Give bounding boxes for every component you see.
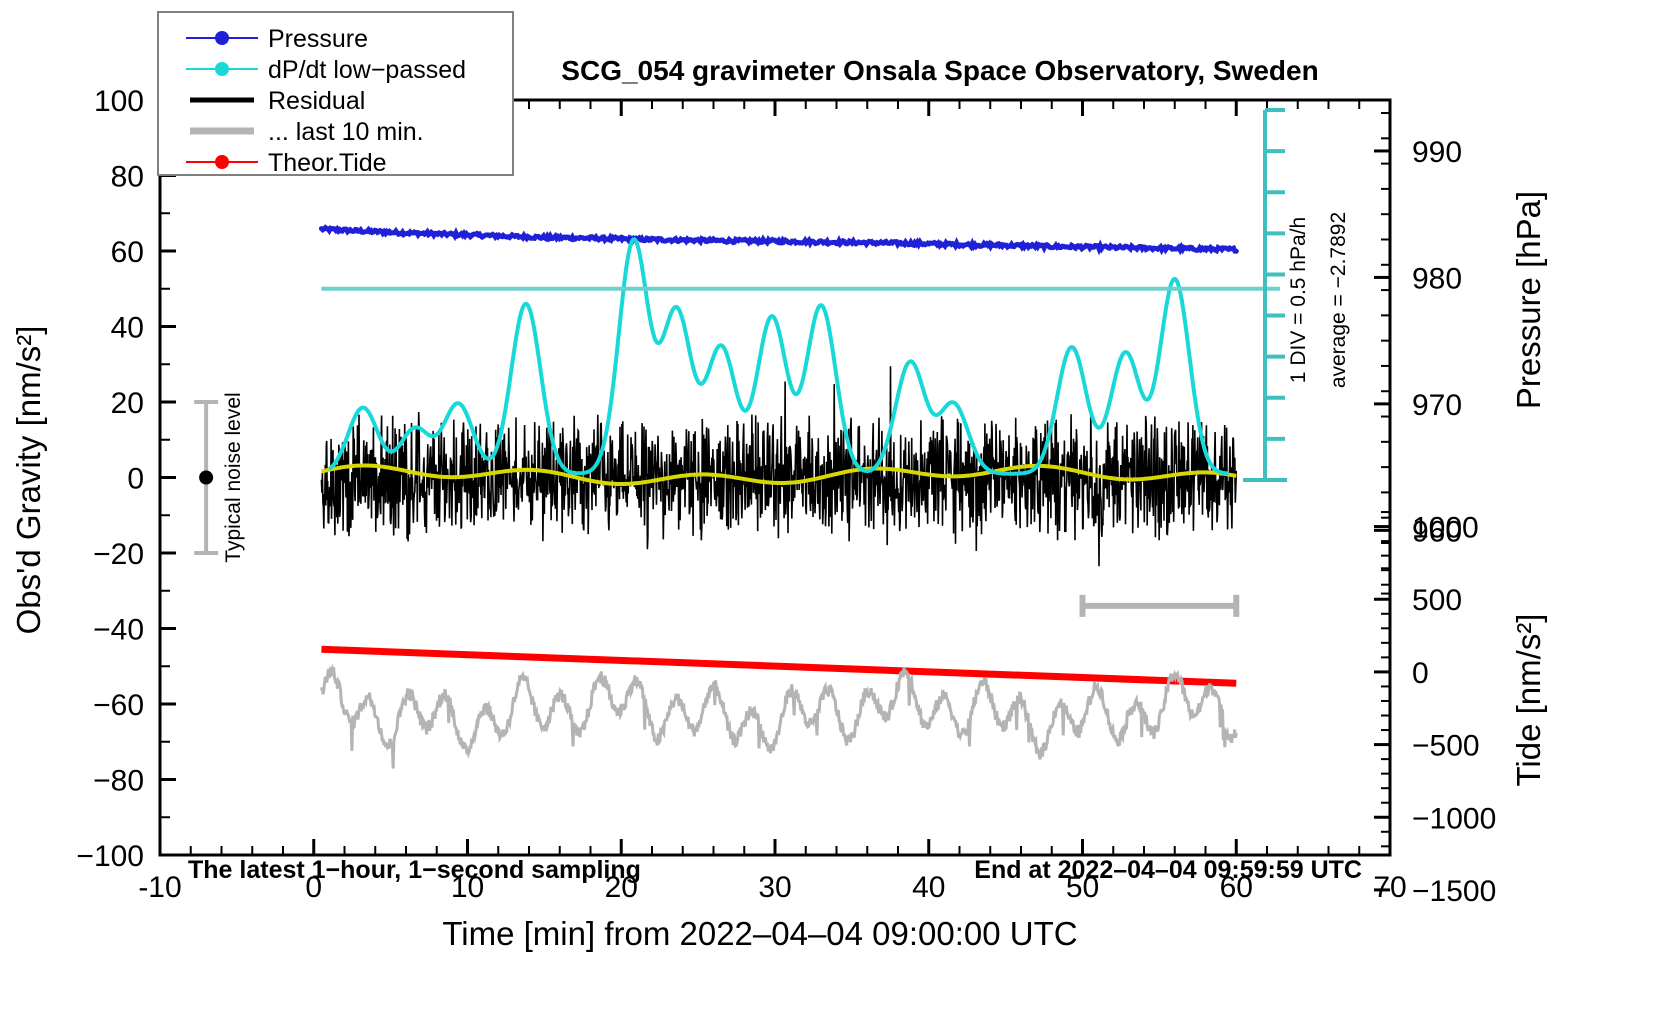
chart-title: SCG_054 gravimeter Onsala Space Observat… [561,55,1318,86]
right-tide-tick-label: −1000 [1412,802,1496,835]
right-tide-tick-label: 1000 [1412,512,1479,545]
legend-marker-1 [215,62,229,76]
legend-label-1: dP/dt low−passed [268,56,466,84]
footer-left-note: The latest 1−hour, 1−second sampling [188,856,641,884]
x-axis-tick-label: 40 [912,871,945,904]
right-tide-axis-title: Tide [nm/s²] [1510,614,1547,787]
footer-right-note: End at 2022–04–04 09:59:59 UTC [974,856,1362,884]
right-tide-tick-label: −1500 [1412,875,1496,908]
y-axis-tick-label: 20 [111,387,144,420]
series-last-10-min [321,667,1236,769]
dpdt-div-label: 1 DIV = 0.5 hPa/h [1287,217,1310,383]
y-axis-title: Obs'd Gravity [nm/s²] [10,326,47,635]
x-axis-title: Time [min] from 2022–04–04 09:00:00 UTC [442,915,1077,952]
right-tide-tick-label: −500 [1412,730,1480,763]
dpdt-average-label: average = −2.7892 [1327,212,1350,388]
right-tide-tick-label: 0 [1412,657,1429,690]
y-axis-tick-label: −80 [93,765,144,798]
y-axis-tick-label: −60 [93,689,144,722]
y-axis-tick-label: −100 [76,840,144,873]
legend-label-0: Pressure [268,25,368,53]
y-axis-tick-label: 0 [127,463,144,496]
legend-label-4: Theor.Tide [268,149,387,177]
gravimeter-chart: 100806040200−20−40−60−80−100-10010203040… [0,0,1660,1020]
right-pressure-tick-label: 980 [1412,262,1462,295]
right-pressure-tick-label: 990 [1412,136,1462,169]
x-axis-tick-label: 70 [1373,871,1406,904]
noise-center-dot [199,471,213,485]
series-pressure [321,228,1236,252]
series-theor-tide [321,649,1236,683]
series-residual [321,366,1236,566]
noise-level-label: Typical noise level [222,392,245,562]
right-pressure-axis-title: Pressure [hPa] [1510,191,1547,409]
legend-marker-0 [215,31,229,45]
legend-label-3: ... last 10 min. [268,118,424,146]
y-axis-tick-label: 60 [111,236,144,269]
legend-label-2: Residual [268,87,365,115]
x-axis-tick-label: 30 [758,871,791,904]
right-pressure-tick-label: 970 [1412,389,1462,422]
chart-root: 100806040200−20−40−60−80−100-10010203040… [0,0,1660,1020]
y-axis-tick-label: 40 [111,312,144,345]
y-axis-tick-label: −40 [93,614,144,647]
x-axis-tick-label: -10 [138,871,181,904]
right-tide-tick-label: 500 [1412,584,1462,617]
legend-marker-4 [215,155,229,169]
y-axis-tick-label: 80 [111,161,144,194]
y-axis-tick-label: −20 [93,538,144,571]
y-axis-tick-label: 100 [94,85,144,118]
